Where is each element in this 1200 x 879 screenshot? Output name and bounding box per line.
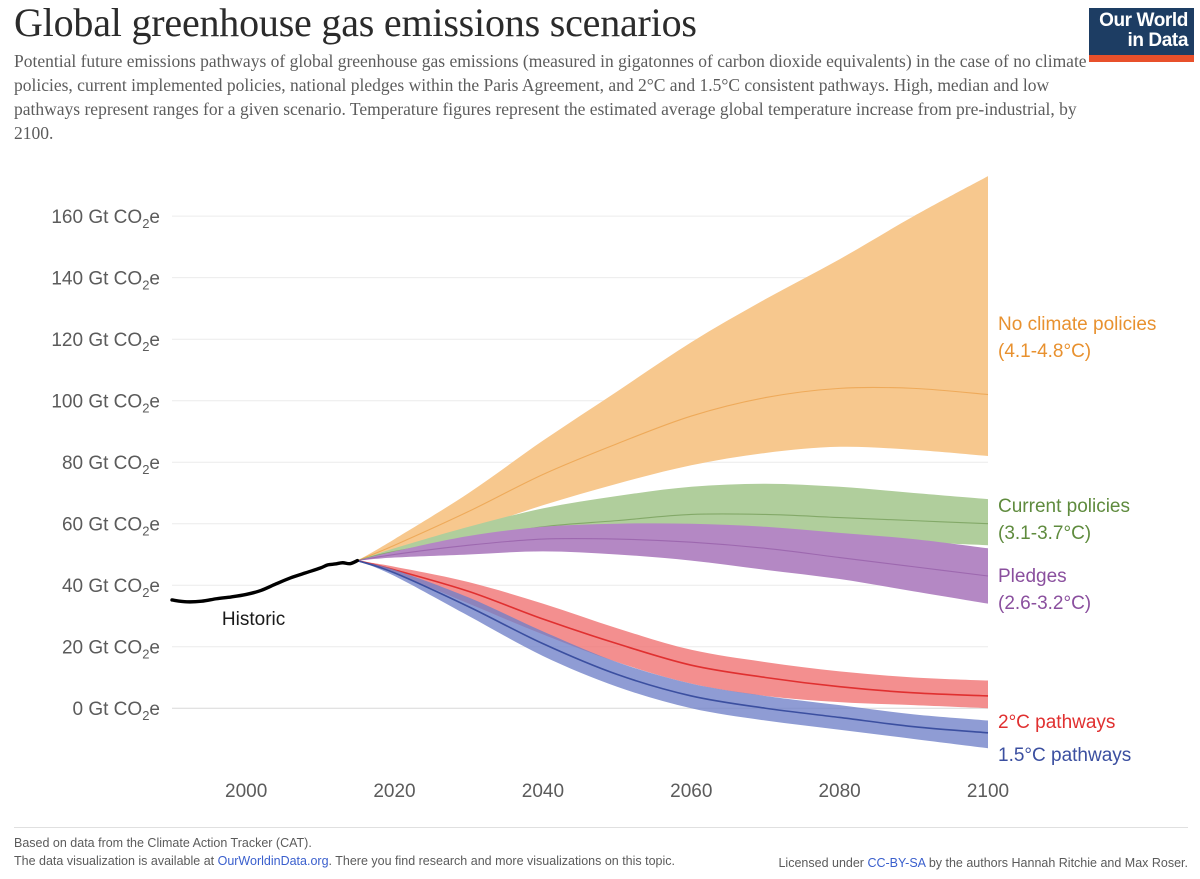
logo-accent-bar	[1089, 55, 1194, 62]
logo-box: Our World in Data	[1089, 8, 1194, 55]
x-tick-label: 2100	[967, 781, 1009, 802]
y-axis-labels: 0 Gt CO2e20 Gt CO2e40 Gt CO2e60 Gt CO2e8…	[51, 207, 160, 723]
license-suffix: by the authors Hannah Ritchie and Max Ro…	[925, 856, 1188, 870]
owid-link[interactable]: OurWorldinData.org	[218, 854, 329, 868]
page-title: Global greenhouse gas emissions scenario…	[14, 2, 1094, 44]
y-tick-label: 20 Gt CO2e	[62, 638, 160, 662]
historic-line[interactable]	[172, 561, 357, 602]
our-world-in-data-logo[interactable]: Our World in Data	[1089, 8, 1194, 62]
x-tick-label: 2060	[670, 781, 712, 802]
series-labels: No climate policies(4.1-4.8°C)Current po…	[998, 314, 1156, 766]
logo-line-1: Our World	[1095, 11, 1188, 31]
series-label-pledges[interactable]: Pledges	[998, 566, 1067, 587]
series-temp-current-policies: (3.1-3.7°C)	[998, 523, 1091, 544]
series-temp-pledges: (2.6-3.2°C)	[998, 593, 1091, 614]
chart-header: Global greenhouse gas emissions scenario…	[14, 2, 1094, 146]
x-tick-label: 2080	[818, 781, 860, 802]
footer-source-line: Based on data from the Climate Action Tr…	[14, 834, 675, 853]
chart-footer: Based on data from the Climate Action Tr…	[14, 827, 1188, 872]
footer-viz-suffix: . There you find research and more visua…	[329, 854, 675, 868]
y-tick-label: 160 Gt CO2e	[51, 207, 160, 231]
y-tick-label: 60 Gt CO2e	[62, 515, 160, 539]
emissions-scenarios-chart[interactable]: 0 Gt CO2e20 Gt CO2e40 Gt CO2e60 Gt CO2e8…	[0, 150, 1200, 830]
x-axis-labels: 200020202040206020802100	[225, 781, 1009, 802]
series-label-no-climate-policies[interactable]: No climate policies	[998, 314, 1156, 335]
historic-label: Historic	[222, 609, 285, 630]
logo-line-2: in Data	[1095, 31, 1188, 51]
x-tick-label: 2000	[225, 781, 267, 802]
x-tick-label: 2040	[522, 781, 564, 802]
series-label-current-policies[interactable]: Current policies	[998, 496, 1130, 517]
chart-plot-area[interactable]: 0 Gt CO2e20 Gt CO2e40 Gt CO2e60 Gt CO2e8…	[0, 150, 1200, 830]
chart-subtitle: Potential future emissions pathways of g…	[14, 50, 1089, 146]
y-tick-label: 100 Gt CO2e	[51, 392, 160, 416]
license-prefix: Licensed under	[778, 856, 867, 870]
y-tick-label: 0 Gt CO2e	[73, 699, 161, 723]
footer-viz-line: The data visualization is available at O…	[14, 852, 675, 871]
series-label-2c-pathways[interactable]: 2°C pathways	[998, 712, 1115, 733]
footer-license: Licensed under CC-BY-SA by the authors H…	[778, 856, 1188, 871]
y-tick-label: 120 Gt CO2e	[51, 330, 160, 354]
series-label-1p5c-pathways[interactable]: 1.5°C pathways	[998, 745, 1131, 766]
license-link[interactable]: CC-BY-SA	[867, 856, 925, 870]
y-tick-label: 140 Gt CO2e	[51, 269, 160, 293]
y-tick-label: 40 Gt CO2e	[62, 576, 160, 600]
series-temp-no-climate-policies: (4.1-4.8°C)	[998, 341, 1091, 362]
y-tick-label: 80 Gt CO2e	[62, 453, 160, 477]
footer-viz-prefix: The data visualization is available at	[14, 854, 218, 868]
x-tick-label: 2020	[373, 781, 415, 802]
chart-page: Global greenhouse gas emissions scenario…	[0, 0, 1200, 879]
footer-source: Based on data from the Climate Action Tr…	[14, 834, 675, 872]
